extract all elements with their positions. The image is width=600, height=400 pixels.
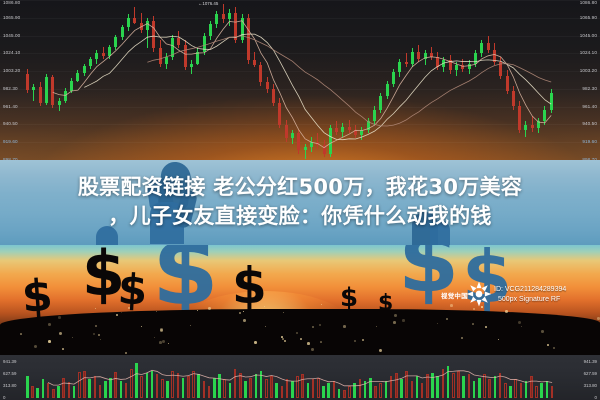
price-axis-tick-right: 1065.90 xyxy=(580,15,597,20)
candle-body xyxy=(411,52,414,64)
volume-bar xyxy=(322,386,325,398)
volume-bar xyxy=(99,385,102,398)
volume-bar xyxy=(182,378,185,398)
candle-wick xyxy=(305,144,306,159)
volume-bar xyxy=(260,371,263,399)
volume-bar xyxy=(473,381,476,398)
candlestick xyxy=(45,74,48,105)
price-axis-tick-right: 982.30 xyxy=(582,86,597,91)
candlestick xyxy=(259,62,262,86)
candle-body xyxy=(121,27,124,37)
asterisk-star-icon xyxy=(466,281,492,307)
volume-axis-tick-right: 627.59 xyxy=(584,371,597,376)
candlestick xyxy=(297,130,300,154)
candlestick xyxy=(550,89,553,113)
candle-body xyxy=(146,21,149,30)
candle-body xyxy=(152,21,155,48)
candle-body xyxy=(177,38,180,45)
volume-bar xyxy=(146,373,149,398)
candle-body xyxy=(278,103,281,125)
sparkle xyxy=(162,340,165,343)
volume-bar xyxy=(166,381,169,398)
candle-body xyxy=(392,72,395,84)
candlestick xyxy=(272,84,275,106)
candlestick xyxy=(133,7,136,24)
candlestick xyxy=(398,59,401,78)
volume-bar xyxy=(540,383,543,398)
volume-axis-tick-right: 941.39 xyxy=(584,359,597,364)
volume-bar xyxy=(94,376,97,398)
candle-body xyxy=(487,43,490,50)
candlestick xyxy=(146,18,149,49)
price-axis-tick-right: 919.60 xyxy=(582,139,597,144)
price-axis-tick-right: 1024.10 xyxy=(580,50,597,55)
candle-body xyxy=(209,24,212,36)
volume-bar xyxy=(421,383,424,398)
candlestick xyxy=(537,118,540,133)
sparkle xyxy=(402,319,405,322)
volume-bar xyxy=(26,376,29,398)
candlestick xyxy=(26,69,29,93)
candle-body xyxy=(39,87,42,103)
volume-bar xyxy=(31,386,34,398)
volume-bar xyxy=(483,374,486,398)
candlestick xyxy=(518,101,521,133)
volume-bar xyxy=(140,376,143,398)
sparkle xyxy=(485,326,487,328)
candlestick xyxy=(234,7,237,43)
dollar-sign-silhouette: $ xyxy=(340,285,358,311)
candle-body xyxy=(398,62,401,72)
candlestick xyxy=(531,116,534,131)
candle-body xyxy=(291,133,294,138)
candle-body xyxy=(196,52,199,64)
volume-bar xyxy=(379,383,382,398)
volume-bar xyxy=(171,371,174,399)
volume-bar xyxy=(83,371,86,399)
candle-body xyxy=(83,66,86,73)
price-axis-tick-right: 1086.80 xyxy=(580,0,597,5)
sparkle xyxy=(597,317,600,320)
candlestick xyxy=(348,120,351,134)
candlestick xyxy=(222,4,225,23)
volume-bar xyxy=(468,374,471,398)
sparkle xyxy=(320,341,322,343)
sparkle xyxy=(437,323,438,324)
candlestick xyxy=(95,50,98,64)
candle-body xyxy=(537,121,540,128)
candle-body xyxy=(367,121,370,130)
candlestick xyxy=(487,36,490,53)
volume-bar xyxy=(431,373,434,398)
candlestick xyxy=(39,82,42,106)
sparkle xyxy=(154,337,155,338)
volume-bar xyxy=(353,383,356,398)
grid-line xyxy=(0,36,600,37)
volume-bar xyxy=(239,373,242,398)
sparkle xyxy=(307,342,310,345)
candle-body xyxy=(140,23,143,30)
grid-line xyxy=(0,71,600,72)
candlestick xyxy=(493,43,496,65)
candle-body xyxy=(95,53,98,59)
candlestick xyxy=(228,9,231,26)
volume-bar xyxy=(47,383,50,398)
grid-line xyxy=(0,53,600,54)
candle-body xyxy=(234,13,237,40)
candlestick xyxy=(392,69,395,88)
price-axis-tick-right: 1003.20 xyxy=(580,68,597,73)
sparkle xyxy=(156,311,157,312)
volume-axis-tick-right: 0 xyxy=(595,395,597,400)
ma-line-20 xyxy=(147,36,551,126)
volume-bar xyxy=(400,379,403,398)
candle-body xyxy=(436,57,439,67)
volume-bar xyxy=(317,378,320,398)
candle-wick xyxy=(191,60,192,74)
candlestick xyxy=(209,21,212,40)
price-axis-tick-right: 961.40 xyxy=(582,104,597,109)
candlestick xyxy=(360,127,363,141)
candlestick xyxy=(266,77,269,92)
price-axis-tick-left: 1065.90 xyxy=(3,15,20,20)
candle-body xyxy=(102,53,105,56)
volume-bar xyxy=(62,378,65,398)
candlestick xyxy=(436,52,439,71)
volume-bar xyxy=(234,369,237,398)
candle-body xyxy=(417,52,420,59)
candlestick xyxy=(108,45,111,59)
candle-body xyxy=(348,127,351,130)
volume-bar xyxy=(374,386,377,398)
candlestick xyxy=(405,53,408,67)
sparkle xyxy=(48,323,51,326)
candlestick xyxy=(184,40,187,71)
candlestick xyxy=(430,47,433,61)
candlestick xyxy=(499,57,502,79)
candle-body xyxy=(531,125,534,128)
volume-bar xyxy=(520,383,523,398)
sparkle xyxy=(243,319,246,322)
candlestick xyxy=(386,81,389,100)
candlestick xyxy=(323,140,326,157)
sparkle xyxy=(59,332,62,335)
candlestick xyxy=(285,120,288,142)
candlestick xyxy=(190,60,193,74)
candle-body xyxy=(89,59,92,66)
candle-body xyxy=(506,76,509,91)
candlestick xyxy=(177,31,180,48)
candlestick xyxy=(373,106,376,125)
volume-bar xyxy=(457,371,460,399)
price-axis-tick-right: 940.50 xyxy=(582,121,597,126)
candle-body xyxy=(45,77,48,103)
sparkle xyxy=(296,332,298,334)
candle-wick xyxy=(406,53,407,67)
candle-body xyxy=(228,13,231,20)
volume-bar xyxy=(301,374,304,398)
price-axis-tick-left: 1024.10 xyxy=(3,50,20,55)
volume-axis-tick-right: 313.80 xyxy=(584,383,597,388)
candlestick xyxy=(215,11,218,28)
volume-bar xyxy=(109,378,112,398)
sparkle xyxy=(394,314,397,317)
candle-body xyxy=(512,91,515,106)
candlestick xyxy=(455,62,458,76)
candlestick xyxy=(241,14,244,43)
volume-bar xyxy=(488,379,491,398)
candlestick xyxy=(524,121,527,136)
candle-body xyxy=(424,53,427,58)
candlestick xyxy=(506,70,509,94)
sparkle xyxy=(393,321,396,324)
candle-body xyxy=(354,130,357,135)
candle-body xyxy=(171,38,174,57)
candle-body xyxy=(253,60,256,65)
sparkle xyxy=(208,307,211,310)
volume-bar xyxy=(452,373,455,398)
dollar-sign-silhouette: $ xyxy=(21,274,55,320)
volume-bar xyxy=(462,376,465,398)
dollar-sign-silhouette: $ xyxy=(117,268,148,311)
volume-bar xyxy=(348,386,351,398)
volume-bar xyxy=(208,386,211,398)
volume-bar xyxy=(426,374,429,398)
candlestick xyxy=(310,137,313,152)
candle-body xyxy=(550,93,553,110)
candlestick xyxy=(76,70,79,82)
candle-body xyxy=(461,65,464,68)
volume-bar xyxy=(364,381,367,398)
vcg-brand-label: 视觉中国 xyxy=(441,290,468,300)
candlestick xyxy=(247,14,250,63)
candle-body xyxy=(272,89,275,103)
candlestick xyxy=(159,40,162,67)
candle-body xyxy=(304,147,307,150)
sparkle xyxy=(95,308,96,309)
candlestick xyxy=(165,53,168,68)
volume-bar xyxy=(312,379,315,398)
candle-body xyxy=(70,81,73,91)
volume-bar xyxy=(218,374,221,398)
price-axis-tick-left: 961.40 xyxy=(3,104,18,109)
sparkle xyxy=(48,340,51,343)
sparkle xyxy=(284,340,286,342)
sparkle xyxy=(518,321,521,324)
volume-bar xyxy=(213,378,216,398)
sparkle xyxy=(58,316,61,319)
price-axis-tick-left: 982.30 xyxy=(3,86,18,91)
sparkle xyxy=(116,314,118,316)
volume-bar xyxy=(130,369,133,398)
candlestick xyxy=(335,121,338,135)
volume-bar xyxy=(73,386,76,398)
sparkle xyxy=(281,336,283,338)
candle-body xyxy=(360,130,363,135)
candlestick xyxy=(442,57,445,72)
candlestick xyxy=(278,98,281,129)
candlestick xyxy=(203,33,206,55)
volume-bar xyxy=(57,386,60,398)
candle-body xyxy=(58,101,61,105)
candlestick xyxy=(51,75,54,108)
sparkle xyxy=(300,338,302,340)
price-axis-tick-left: 1086.80 xyxy=(3,0,20,5)
volume-axis-tick-left: 627.59 xyxy=(3,371,16,376)
volume-bar xyxy=(509,386,512,398)
volume-bar xyxy=(281,386,284,398)
candle-body xyxy=(518,106,521,130)
volume-bar xyxy=(327,383,330,398)
sparkle xyxy=(505,310,508,313)
candlestick xyxy=(140,13,143,33)
candle-body xyxy=(114,37,117,47)
candlestick xyxy=(152,16,155,52)
volume-bar xyxy=(286,379,289,398)
volume-bar xyxy=(104,381,107,398)
candle-body xyxy=(499,62,502,76)
candlestick xyxy=(83,64,86,76)
grid-line xyxy=(0,0,600,1)
sparkle xyxy=(547,344,549,346)
sparkle xyxy=(20,333,22,335)
candlestick xyxy=(543,106,546,125)
candlestick xyxy=(102,47,105,59)
volume-bar xyxy=(504,383,507,398)
volume-bar xyxy=(478,378,481,398)
candle-body xyxy=(259,65,262,82)
candlestick xyxy=(121,25,124,40)
ma-line-5 xyxy=(53,21,551,148)
volume-bar xyxy=(52,389,55,398)
candle-body xyxy=(159,48,162,63)
candlestick xyxy=(480,40,483,57)
candle-body xyxy=(323,145,326,154)
candlestick xyxy=(354,125,357,139)
candle-body xyxy=(241,18,244,40)
volume-bar xyxy=(535,386,538,398)
candle-body xyxy=(32,87,35,90)
candlestick xyxy=(291,130,294,144)
candle-body xyxy=(442,60,445,67)
candlestick xyxy=(316,133,319,148)
candle-body xyxy=(64,91,67,101)
candlestick xyxy=(196,48,199,65)
volume-bar xyxy=(436,376,439,398)
volume-bar xyxy=(114,372,117,398)
price-axis-tick-left: 1045.00 xyxy=(3,33,20,38)
volume-bar xyxy=(249,378,252,398)
candle-body xyxy=(455,65,458,70)
candlestick xyxy=(411,48,414,67)
candlestick xyxy=(89,57,92,69)
volume-bar xyxy=(333,381,336,398)
volume-bar xyxy=(525,381,528,398)
volume-bar xyxy=(255,374,258,398)
candlestick xyxy=(329,125,332,157)
candle-body xyxy=(430,53,433,56)
volume-bar xyxy=(416,376,419,398)
candle-body xyxy=(329,128,332,154)
volume-bar xyxy=(291,381,294,398)
volume-bar xyxy=(514,379,517,398)
volume-chart-panel: 941.39627.59313.800 941.39627.59313.800 xyxy=(0,355,600,400)
candle-body xyxy=(108,47,111,56)
candlestick xyxy=(379,93,382,113)
candlestick xyxy=(304,144,307,159)
price-axis-tick-right: 1045.00 xyxy=(580,33,597,38)
candle-body xyxy=(405,62,408,64)
candle-body xyxy=(335,128,338,131)
volume-axis-tick-left: 0 xyxy=(3,395,5,400)
volume-bar xyxy=(359,379,362,398)
sparkle xyxy=(254,341,257,344)
candle-body xyxy=(215,14,218,24)
headline-line-1: 股票配资链接 老公分红500万，我花30万美容 xyxy=(78,175,522,201)
sparkle xyxy=(450,304,453,307)
volume-bar xyxy=(42,379,45,398)
volume-bar xyxy=(229,383,232,398)
candlestick xyxy=(424,50,427,65)
candlestick xyxy=(58,98,61,112)
candle-body xyxy=(474,53,477,63)
sparkle xyxy=(282,338,284,340)
volume-bar xyxy=(343,390,346,398)
candle-body xyxy=(480,43,483,53)
candle-body xyxy=(386,84,389,96)
sparkle xyxy=(343,325,346,328)
candlestick xyxy=(127,14,130,31)
candle-body xyxy=(266,82,269,89)
candlestick xyxy=(474,50,477,67)
volume-bar xyxy=(120,381,123,398)
candlestick xyxy=(449,55,452,74)
candle-body xyxy=(316,142,319,145)
volume-bar xyxy=(192,371,195,398)
volume-bar xyxy=(270,376,273,398)
price-axis-tick-left: 919.60 xyxy=(3,139,18,144)
candle-body xyxy=(190,64,193,67)
volume-bar xyxy=(369,378,372,398)
candle-body xyxy=(133,18,136,23)
candlestick xyxy=(114,35,117,50)
price-axis-tick-left: 1003.20 xyxy=(3,68,20,73)
volume-bar xyxy=(68,382,71,399)
volume-bar xyxy=(177,373,180,398)
sparkle xyxy=(541,330,544,333)
grid-line xyxy=(0,124,600,125)
sparkle xyxy=(472,323,474,325)
volume-bar xyxy=(442,369,445,398)
candle-body xyxy=(285,125,288,139)
candle-body xyxy=(468,64,471,69)
volume-bar xyxy=(411,381,414,398)
grid-line xyxy=(0,18,600,19)
news-image-composite: 1086.801065.901045.001024.101003.20982.3… xyxy=(0,0,600,400)
candle-body xyxy=(184,45,187,67)
volume-bar xyxy=(530,376,533,398)
sparkle xyxy=(461,337,463,339)
volume-bar xyxy=(385,381,388,398)
candlestick xyxy=(461,59,464,73)
sparkle xyxy=(160,329,163,332)
candle-body xyxy=(51,77,54,105)
dollar-sign-silhouette: $ xyxy=(232,261,267,311)
sparkle xyxy=(311,348,314,351)
candle-body xyxy=(543,110,546,122)
volume-bar xyxy=(405,371,408,399)
sparkle xyxy=(521,326,522,327)
